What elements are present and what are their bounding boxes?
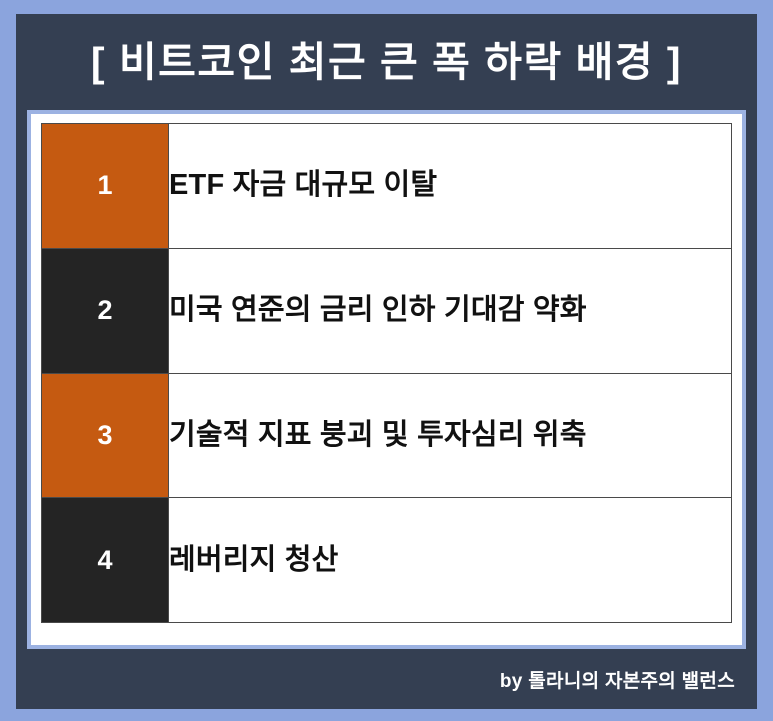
reasons-table-body: 1 ETF 자금 대규모 이탈 2 미국 연준의 금리 인하 기대감 약화 3 … bbox=[42, 124, 732, 623]
footer-band: by 톨라니의 자본주의 밸런스 bbox=[16, 649, 757, 709]
row-text-cell: 기술적 지표 붕괴 및 투자심리 위축 bbox=[169, 373, 732, 498]
infographic-canvas: [ 비트코인 최근 큰 폭 하락 배경 ] 1 ETF 자금 대규모 이탈 2 … bbox=[0, 0, 773, 721]
panel-frame: 1 ETF 자금 대규모 이탈 2 미국 연준의 금리 인하 기대감 약화 3 … bbox=[27, 110, 746, 649]
row-text-cell: 레버리지 청산 bbox=[169, 498, 732, 623]
table-row: 4 레버리지 청산 bbox=[42, 498, 732, 623]
row-text-cell: ETF 자금 대규모 이탈 bbox=[169, 124, 732, 249]
row-number-cell: 3 bbox=[42, 373, 169, 498]
row-text-cell: 미국 연준의 금리 인하 기대감 약화 bbox=[169, 248, 732, 373]
row-number-cell: 1 bbox=[42, 124, 169, 249]
reasons-table: 1 ETF 자금 대규모 이탈 2 미국 연준의 금리 인하 기대감 약화 3 … bbox=[41, 123, 732, 623]
page-title: [ 비트코인 최근 큰 폭 하락 배경 ] bbox=[91, 42, 682, 83]
navy-card: [ 비트코인 최근 큰 폭 하락 배경 ] 1 ETF 자금 대규모 이탈 2 … bbox=[16, 14, 757, 709]
table-row: 1 ETF 자금 대규모 이탈 bbox=[42, 124, 732, 249]
row-number-cell: 2 bbox=[42, 248, 169, 373]
credit-byline: by 톨라니의 자본주의 밸런스 bbox=[500, 666, 735, 693]
table-row: 3 기술적 지표 붕괴 및 투자심리 위축 bbox=[42, 373, 732, 498]
table-row: 2 미국 연준의 금리 인하 기대감 약화 bbox=[42, 248, 732, 373]
white-panel: 1 ETF 자금 대규모 이탈 2 미국 연준의 금리 인하 기대감 약화 3 … bbox=[31, 114, 742, 645]
title-band: [ 비트코인 최근 큰 폭 하락 배경 ] bbox=[16, 14, 757, 110]
row-number-cell: 4 bbox=[42, 498, 169, 623]
